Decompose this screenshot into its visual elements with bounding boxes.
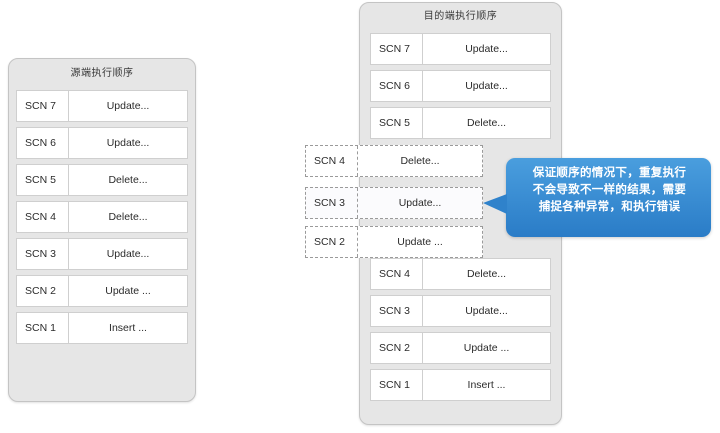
callout-arrow-icon (483, 194, 507, 214)
floating-row-scn3-scn: SCN 3 (306, 188, 358, 218)
source-row-scn3-op: Update... (69, 239, 187, 269)
source-row-scn6: SCN 6 Update... (16, 127, 188, 159)
floating-row-scn4-scn: SCN 4 (306, 146, 358, 176)
source-row-scn2: SCN 2 Update ... (16, 275, 188, 307)
source-row-scn4-scn: SCN 4 (17, 202, 69, 232)
target-row-bottom-scn2: SCN 2 Update ... (370, 332, 551, 364)
floating-row-scn2-op: Update ... (358, 227, 482, 257)
target-row-bottom-scn1-scn: SCN 1 (371, 370, 423, 400)
target-row-bottom-scn3: SCN 3 Update... (370, 295, 551, 327)
annotation-callout: 保证顺序的情况下，重复执行 不会导致不一样的结果，需要 捕捉各种异常，和执行错误 (506, 158, 711, 237)
source-row-scn1: SCN 1 Insert ... (16, 312, 188, 344)
target-row-top-scn5: SCN 5 Delete... (370, 107, 551, 139)
target-row-top-scn6-op: Update... (423, 71, 550, 101)
target-row-bottom-scn2-scn: SCN 2 (371, 333, 423, 363)
source-row-scn7-op: Update... (69, 91, 187, 121)
floating-row-scn3-op: Update... (358, 188, 482, 218)
source-row-scn2-scn: SCN 2 (17, 276, 69, 306)
source-row-scn1-scn: SCN 1 (17, 313, 69, 343)
source-row-scn5-scn: SCN 5 (17, 165, 69, 195)
source-row-scn4: SCN 4 Delete... (16, 201, 188, 233)
source-row-scn6-scn: SCN 6 (17, 128, 69, 158)
source-row-scn3-scn: SCN 3 (17, 239, 69, 269)
target-row-top-scn5-op: Delete... (423, 108, 550, 138)
diagram-canvas: 源端执行顺序 SCN 7 Update... SCN 6 Update... S… (0, 0, 720, 433)
target-row-bottom-scn2-op: Update ... (423, 333, 550, 363)
target-row-bottom-scn3-scn: SCN 3 (371, 296, 423, 326)
callout-text: 保证顺序的情况下，重复执行 不会导致不一样的结果，需要 捕捉各种异常，和执行错误 (518, 165, 701, 216)
source-row-scn7: SCN 7 Update... (16, 90, 188, 122)
source-row-scn7-scn: SCN 7 (17, 91, 69, 121)
floating-row-scn3: SCN 3 Update... (305, 187, 483, 219)
target-row-bottom-scn1: SCN 1 Insert ... (370, 369, 551, 401)
target-row-top-scn6: SCN 6 Update... (370, 70, 551, 102)
source-row-scn6-op: Update... (69, 128, 187, 158)
floating-row-scn2-scn: SCN 2 (306, 227, 358, 257)
target-row-top-scn5-scn: SCN 5 (371, 108, 423, 138)
source-row-scn5: SCN 5 Delete... (16, 164, 188, 196)
source-row-scn4-op: Delete... (69, 202, 187, 232)
target-panel-title: 目的端执行顺序 (360, 10, 561, 24)
floating-row-scn2: SCN 2 Update ... (305, 226, 483, 258)
target-row-bottom-scn4-op: Delete... (423, 259, 550, 289)
source-panel-title: 源端执行顺序 (9, 67, 195, 81)
source-row-scn1-op: Insert ... (69, 313, 187, 343)
target-row-top-scn7-scn: SCN 7 (371, 34, 423, 64)
target-row-top-scn7: SCN 7 Update... (370, 33, 551, 65)
target-row-top-scn6-scn: SCN 6 (371, 71, 423, 101)
target-row-bottom-scn1-op: Insert ... (423, 370, 550, 400)
floating-row-scn4: SCN 4 Delete... (305, 145, 483, 177)
target-row-bottom-scn4: SCN 4 Delete... (370, 258, 551, 290)
source-row-scn5-op: Delete... (69, 165, 187, 195)
floating-row-scn4-op: Delete... (358, 146, 482, 176)
source-row-scn3: SCN 3 Update... (16, 238, 188, 270)
target-row-top-scn7-op: Update... (423, 34, 550, 64)
target-row-bottom-scn3-op: Update... (423, 296, 550, 326)
source-row-scn2-op: Update ... (69, 276, 187, 306)
target-row-bottom-scn4-scn: SCN 4 (371, 259, 423, 289)
